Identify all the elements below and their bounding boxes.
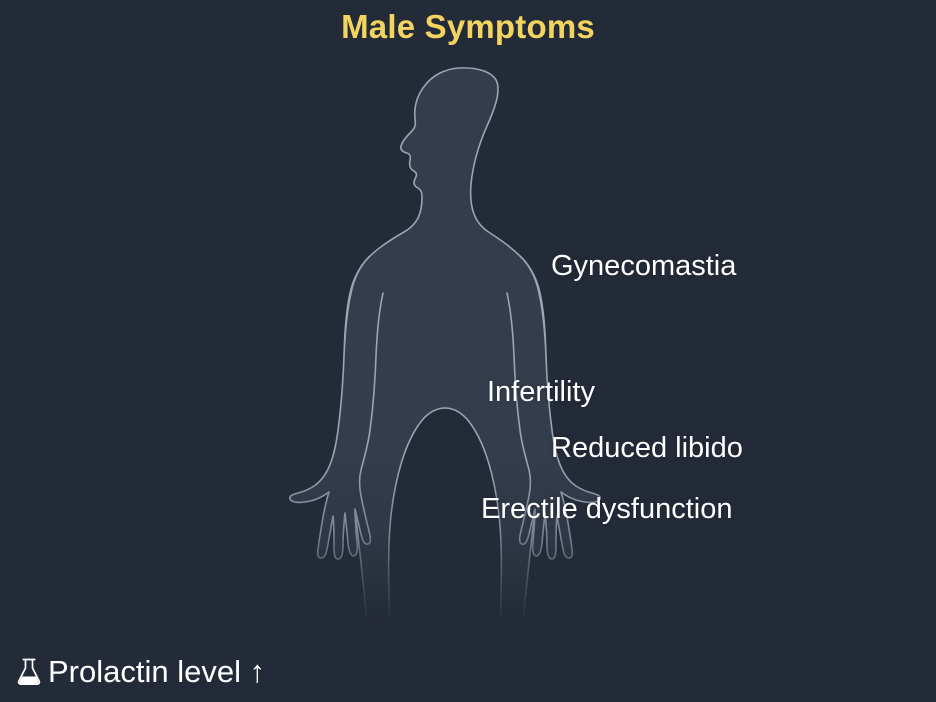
symptom-label-infertility: Infertility [487,375,595,409]
body-silhouette-figure [268,52,688,622]
symptom-label-erectile-dysfunction: Erectile dysfunction [481,492,732,526]
footer-note: Prolactin level ↑ [16,654,265,690]
slide-canvas: Male Symptoms [0,0,936,702]
footer-text: Prolactin level ↑ [48,654,265,690]
page-title: Male Symptoms [0,6,936,48]
symptom-label-reduced-libido: Reduced libido [551,431,743,465]
flask-icon [16,657,42,687]
male-body-silhouette-icon [268,52,688,622]
symptom-label-gynecomastia: Gynecomastia [551,249,736,283]
